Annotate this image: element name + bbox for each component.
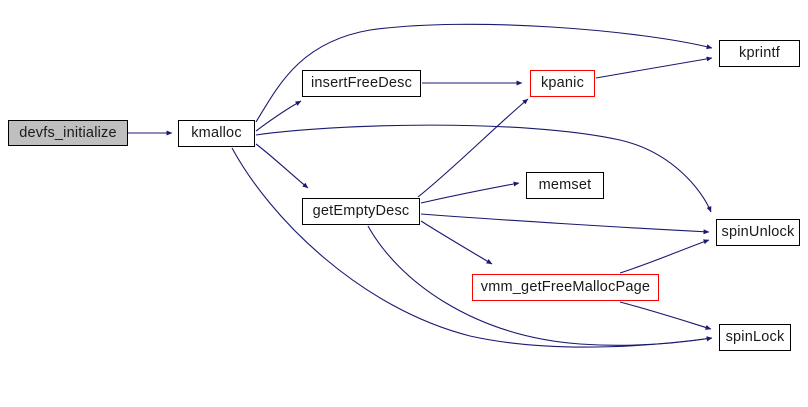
node-kprintf[interactable]: kprintf <box>719 40 800 67</box>
node-label-devfs_initialize: devfs_initialize <box>19 126 117 141</box>
node-label-spinLock: spinLock <box>726 330 785 345</box>
node-label-memset: memset <box>539 178 592 193</box>
edge-vmm_getFreeMallocPage-to-spinLock <box>620 302 711 329</box>
node-kmalloc[interactable]: kmalloc <box>178 120 255 147</box>
node-label-kpanic: kpanic <box>541 76 584 91</box>
edge-getEmptyDesc-to-memset <box>421 183 519 203</box>
node-label-spinUnlock: spinUnlock <box>722 225 795 240</box>
node-label-kmalloc: kmalloc <box>191 126 242 141</box>
edge-getEmptyDesc-to-spinUnlock <box>421 214 709 232</box>
edge-getEmptyDesc-to-vmm_getFreeMallocPage <box>421 221 492 264</box>
edge-kmalloc-to-insertFreeDesc <box>256 101 301 131</box>
edge-kmalloc-to-getEmptyDesc <box>256 144 308 188</box>
node-getEmptyDesc[interactable]: getEmptyDesc <box>302 198 420 225</box>
node-label-kprintf: kprintf <box>739 46 780 61</box>
node-label-insertFreeDesc: insertFreeDesc <box>311 76 412 91</box>
node-memset[interactable]: memset <box>526 172 604 199</box>
node-label-vmm_getFreeMallocPage: vmm_getFreeMallocPage <box>481 280 650 295</box>
edge-vmm_getFreeMallocPage-to-spinUnlock <box>620 240 709 273</box>
edge-getEmptyDesc-to-kpanic <box>418 99 528 197</box>
node-vmm_getFreeMallocPage[interactable]: vmm_getFreeMallocPage <box>472 274 659 301</box>
edge-kpanic-to-kprintf <box>596 58 712 78</box>
node-devfs_initialize[interactable]: devfs_initialize <box>8 120 128 146</box>
node-kpanic[interactable]: kpanic <box>530 70 595 97</box>
node-spinUnlock[interactable]: spinUnlock <box>716 219 800 246</box>
node-spinLock[interactable]: spinLock <box>719 324 791 351</box>
node-label-getEmptyDesc: getEmptyDesc <box>313 204 410 219</box>
node-insertFreeDesc[interactable]: insertFreeDesc <box>302 70 421 97</box>
call-graph-canvas: devfs_initializekmallocinsertFreeDesckpa… <box>0 0 808 407</box>
